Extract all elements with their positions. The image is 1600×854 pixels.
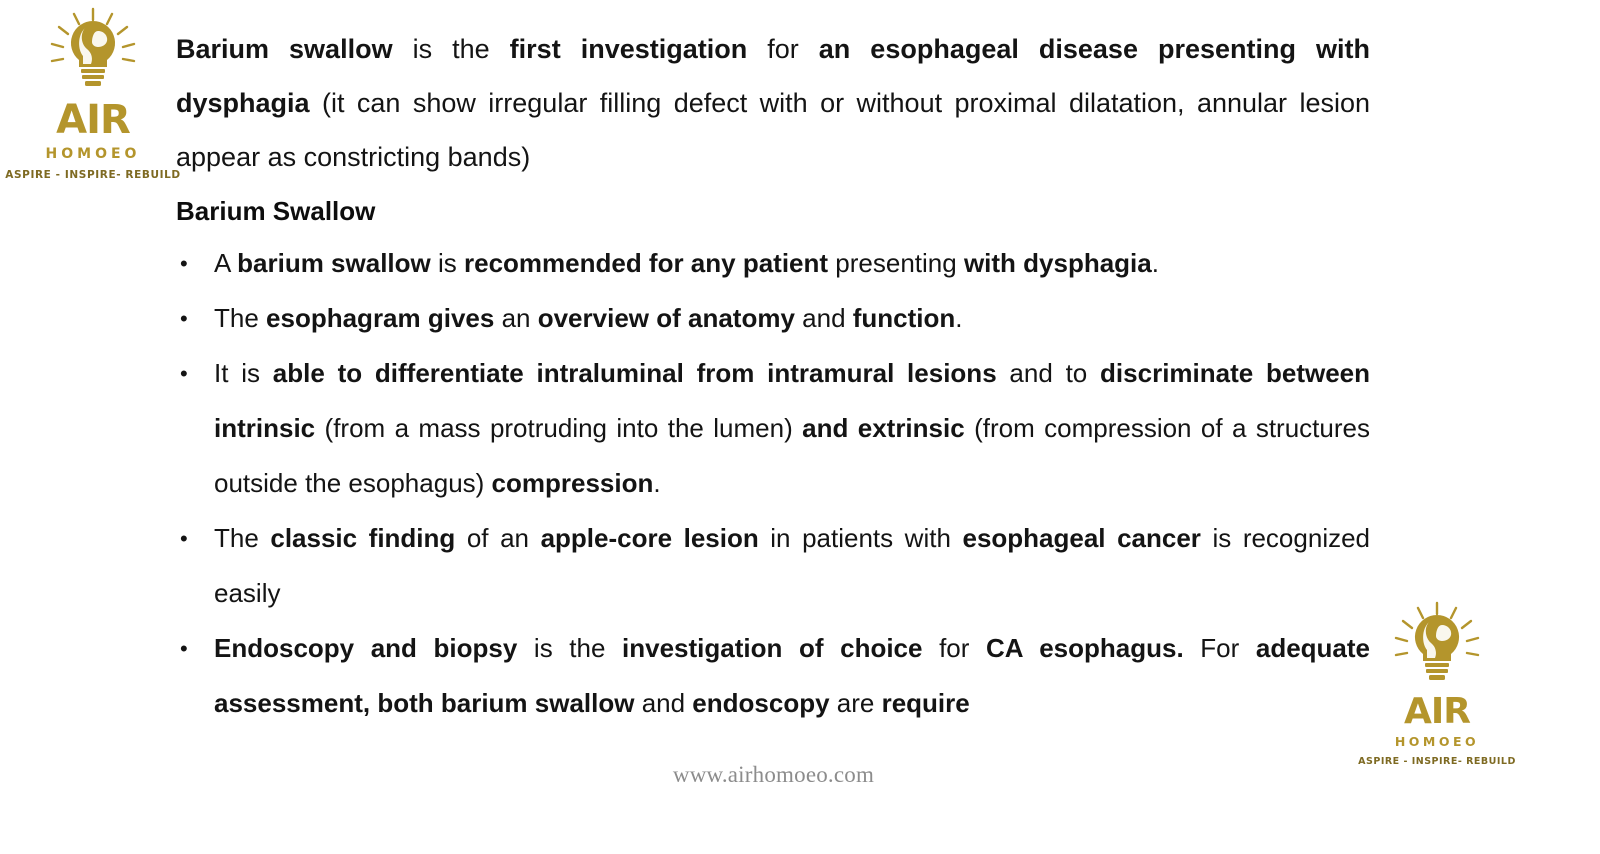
website-footer: www.airhomoeo.com [0,762,1547,788]
section-heading: Barium Swallow [176,186,1370,236]
list-item: The esophagram gives an overview of anat… [176,291,1370,346]
lightbulb-with-rays-icon [1387,600,1487,700]
logo-tagline: ASPIRE - INSPIRE- REBUILD [5,170,180,181]
list-item: The classic finding of an apple-core les… [176,511,1370,621]
intro-paragraph: Barium swallow is the first investigatio… [176,22,1370,184]
logo-wordmark: AIR [56,100,130,140]
list-item: A barium swallow is recommended for any … [176,236,1370,291]
logo-subtitle: HOMOEO [46,147,141,161]
slide-content: Barium swallow is the first investigatio… [176,22,1370,731]
list-item: It is able to differentiate intraluminal… [176,346,1370,511]
brand-logo-top: AIR HOMOEO ASPIRE - INSPIRE- REBUILD [28,6,158,181]
logo-subtitle: HOMOEO [1395,736,1479,749]
brand-logo-bottom: AIR HOMOEO ASPIRE - INSPIRE- REBUILD [1372,600,1502,766]
lightbulb-with-rays-icon [43,6,143,106]
bullet-list: A barium swallow is recommended for any … [176,236,1370,731]
list-item: Endoscopy and biopsy is the investigatio… [176,621,1370,731]
